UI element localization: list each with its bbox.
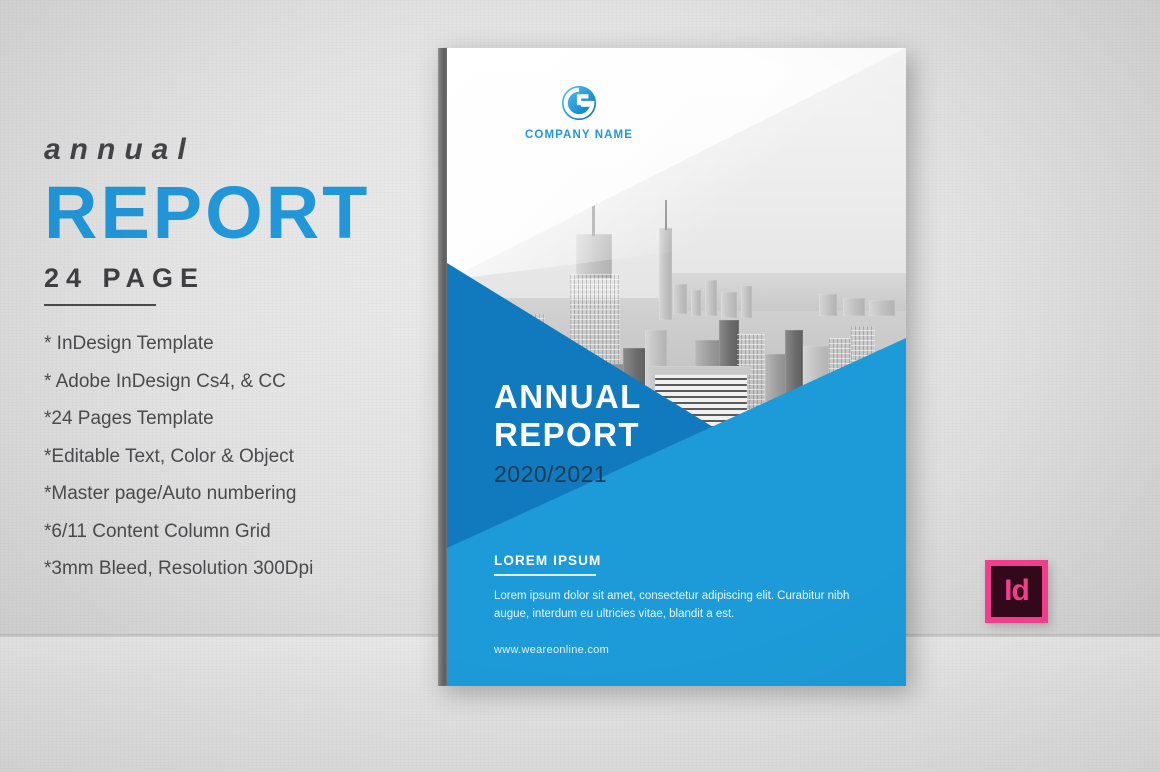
mockup-canvas: annual REPORT 24 PAGE * InDesign Templat… <box>0 0 1160 772</box>
brochure-cover-mockup: COMPANY NAME ANNUAL REPORT 2020/2021 LOR… <box>447 48 906 686</box>
left-info-panel: annual REPORT 24 PAGE * InDesign Templat… <box>44 135 404 597</box>
headline-report: REPORT <box>44 179 404 247</box>
feature-item: * InDesign Template <box>44 334 404 353</box>
subtitle-pages: 24 PAGE <box>44 265 404 292</box>
feature-item: *3mm Bleed, Resolution 300Dpi <box>44 559 404 578</box>
feature-list: * InDesign Template * Adobe InDesign Cs4… <box>44 334 404 578</box>
cover-title-line-1: ANNUAL <box>494 378 642 416</box>
subtitle-underline <box>44 304 156 306</box>
cover-description-block: LOREM IPSUM Lorem ipsum dolor sit amet, … <box>494 553 886 656</box>
feature-item: *6/11 Content Column Grid <box>44 522 404 541</box>
cover-title-line-2: REPORT <box>494 416 642 454</box>
cover-title-block: ANNUAL REPORT 2020/2021 <box>494 378 642 488</box>
cover-page: COMPANY NAME ANNUAL REPORT 2020/2021 LOR… <box>447 48 906 686</box>
cover-year-label: 2020/2021 <box>494 461 642 488</box>
section-heading: LOREM IPSUM <box>494 553 886 568</box>
company-name-label: COMPANY NAME <box>494 129 664 141</box>
cover-logo-block: COMPANY NAME <box>494 84 664 141</box>
circular-swirl-logo-icon <box>560 84 598 122</box>
indesign-icon-label: Id <box>1004 576 1029 606</box>
kicker-annual: annual <box>44 135 404 165</box>
section-body-text: Lorem ipsum dolor sit amet, consectetur … <box>494 588 866 624</box>
section-heading-underline <box>494 574 596 576</box>
feature-item: * Adobe InDesign Cs4, & CC <box>44 372 404 391</box>
feature-item: *Editable Text, Color & Object <box>44 447 404 466</box>
feature-item: *24 Pages Template <box>44 409 404 428</box>
adobe-indesign-icon: Id <box>985 560 1048 623</box>
indesign-icon-inner: Id <box>991 566 1042 617</box>
feature-item: *Master page/Auto numbering <box>44 484 404 503</box>
cover-website-url: www.weareonline.com <box>494 644 886 656</box>
